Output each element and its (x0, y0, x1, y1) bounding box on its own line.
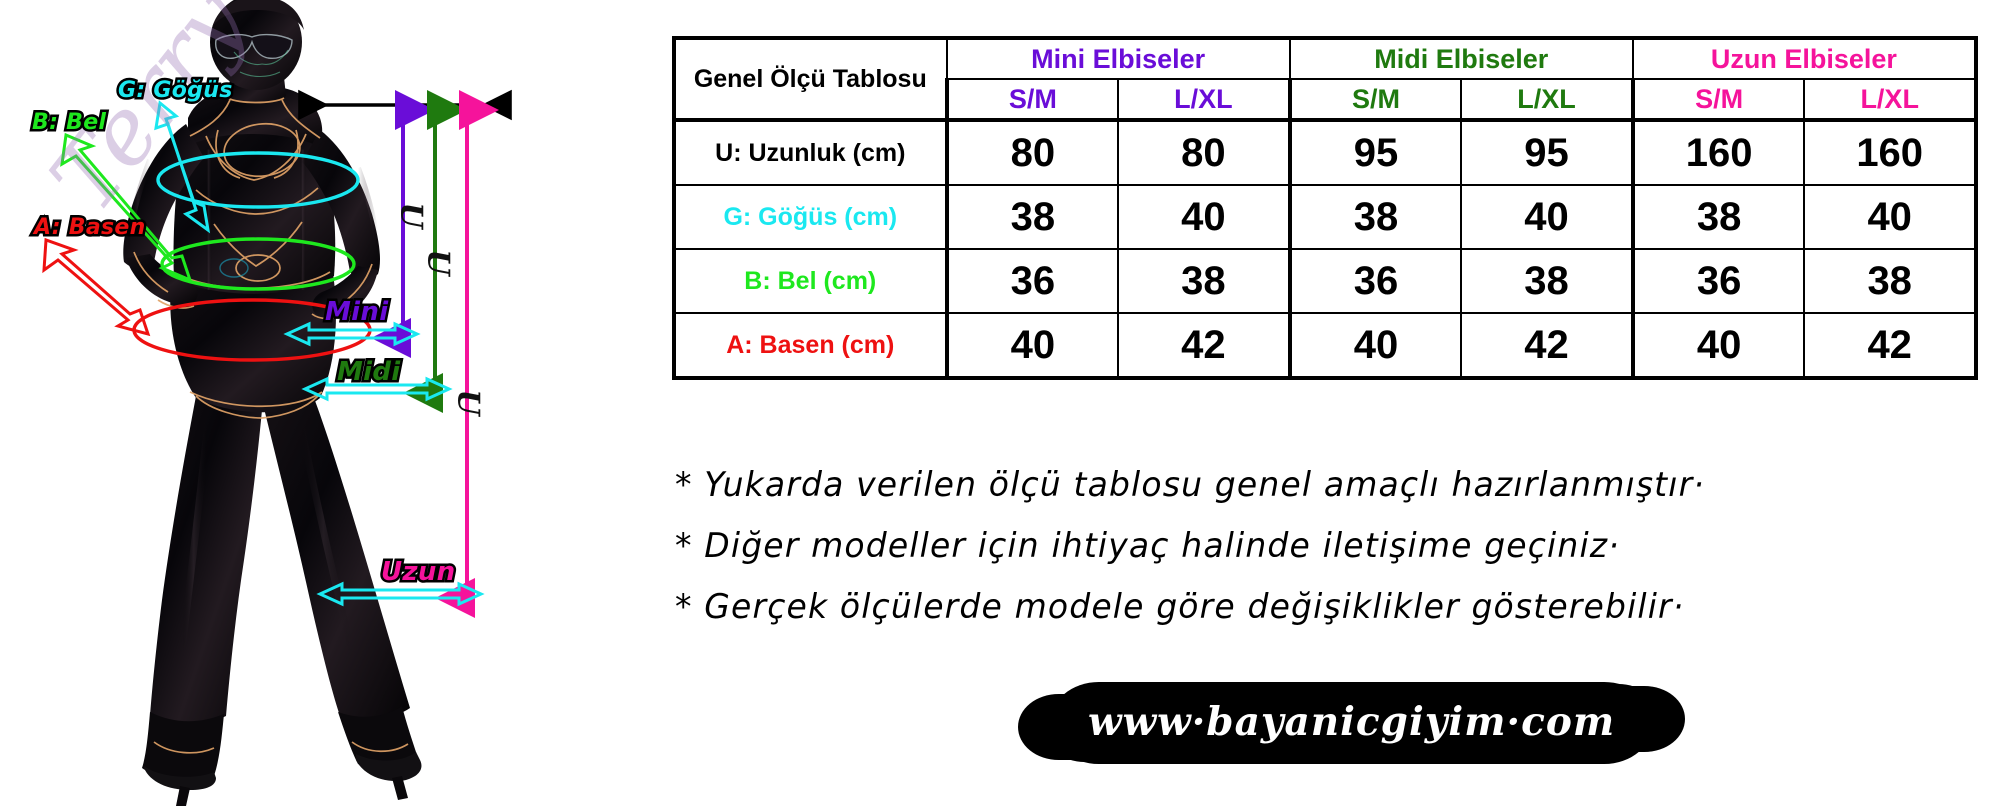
cell-gogus-midi-sm: 38 (1290, 185, 1462, 249)
group-header-uzun: Uzun Elbiseler (1633, 38, 1976, 79)
cell-uzunluk-uzun-sm: 160 (1633, 120, 1805, 185)
uzun-length-label: UzunUzun (381, 557, 455, 587)
midi-length-label: MidiMidi (337, 357, 401, 387)
cell-basen-midi-sm: 40 (1290, 313, 1462, 378)
website-url[interactable]: www·bayanicgiyim·com (1088, 699, 1615, 745)
midi-u-marker: U (421, 249, 456, 275)
waist-label: B: BelB: Bel (32, 110, 106, 135)
cell-basen-uzun-lxl: 42 (1804, 313, 1976, 378)
row-label-uzunluk: U: Uzunluk (cm) (674, 120, 947, 185)
size-header-uzun-sm: S/M (1633, 79, 1805, 120)
size-chart-image: Terry Pau G: GöğüsG: Göğüs B: BelB: Bel … (0, 0, 2010, 811)
cell-gogus-mini-lxl: 40 (1118, 185, 1290, 249)
cell-basen-mini-lxl: 42 (1118, 313, 1290, 378)
mini-length-label: MiniMini (325, 297, 388, 327)
size-header-mini-lxl: L/XL (1118, 79, 1290, 120)
cell-bel-midi-sm: 36 (1290, 249, 1462, 313)
row-label-basen: A: Basen (cm) (674, 313, 947, 378)
size-table: Genel Ölçü Tablosu Mini Elbiseler Midi E… (672, 36, 1978, 380)
measurement-diagram: Terry Pau G: GöğüsG: Göğüs B: BelB: Bel … (0, 0, 660, 811)
row-label-gogus: G: Göğüs (cm) (674, 185, 947, 249)
note-line: * Gerçek ölçülerde modele göre değişikli… (675, 590, 1955, 624)
bust-label: G: GöğüsG: Göğüs (118, 78, 233, 103)
note-line: * Yukarda verilen ölçü tablosu genel ama… (675, 468, 1955, 502)
cell-uzunluk-midi-lxl: 95 (1461, 120, 1633, 185)
cell-uzunluk-mini-sm: 80 (947, 120, 1119, 185)
size-table-panel: Genel Ölçü Tablosu Mini Elbiseler Midi E… (672, 36, 1978, 380)
size-header-mini-sm: S/M (947, 79, 1119, 120)
cell-gogus-midi-lxl: 40 (1461, 185, 1633, 249)
notes-list: * Yukarda verilen ölçü tablosu genel ama… (675, 468, 1995, 651)
size-header-uzun-lxl: L/XL (1804, 79, 1976, 120)
row-label-bel: B: Bel (cm) (674, 249, 947, 313)
uzun-u-marker: U (451, 389, 486, 415)
cell-uzunluk-uzun-lxl: 160 (1804, 120, 1976, 185)
cell-uzunluk-midi-sm: 95 (1290, 120, 1462, 185)
cell-bel-uzun-lxl: 38 (1804, 249, 1976, 313)
cell-bel-uzun-sm: 36 (1633, 249, 1805, 313)
cell-bel-mini-sm: 36 (947, 249, 1119, 313)
group-header-mini: Mini Elbiseler (947, 38, 1290, 79)
cell-bel-midi-lxl: 38 (1461, 249, 1633, 313)
table-group-header-row: Genel Ölçü Tablosu Mini Elbiseler Midi E… (674, 38, 1976, 79)
size-header-midi-lxl: L/XL (1461, 79, 1633, 120)
hip-label: A: BasenA: Basen (34, 215, 146, 240)
table-corner-label: Genel Ölçü Tablosu (674, 38, 947, 120)
table-row: G: Göğüs (cm) 38 40 38 40 38 40 (674, 185, 1976, 249)
cell-uzunluk-mini-lxl: 80 (1118, 120, 1290, 185)
table-row: B: Bel (cm) 36 38 36 38 36 38 (674, 249, 1976, 313)
note-line: * Diğer modeller için ihtiyaç halinde il… (675, 529, 1955, 563)
cell-gogus-uzun-lxl: 40 (1804, 185, 1976, 249)
cell-gogus-uzun-sm: 38 (1633, 185, 1805, 249)
cell-basen-midi-lxl: 42 (1461, 313, 1633, 378)
cell-bel-mini-lxl: 38 (1118, 249, 1290, 313)
table-row: A: Basen (cm) 40 42 40 42 40 42 (674, 313, 1976, 378)
size-header-midi-sm: S/M (1290, 79, 1462, 120)
group-header-midi: Midi Elbiseler (1290, 38, 1633, 79)
cell-basen-uzun-sm: 40 (1633, 313, 1805, 378)
mini-u-marker: U (394, 202, 429, 228)
table-row: U: Uzunluk (cm) 80 80 95 95 160 160 (674, 120, 1976, 185)
cell-basen-mini-sm: 40 (947, 313, 1119, 378)
website-banner[interactable]: www·bayanicgiyim·com (1058, 690, 1645, 756)
banner-blob-background: www·bayanicgiyim·com (1058, 690, 1645, 756)
cell-gogus-mini-sm: 38 (947, 185, 1119, 249)
